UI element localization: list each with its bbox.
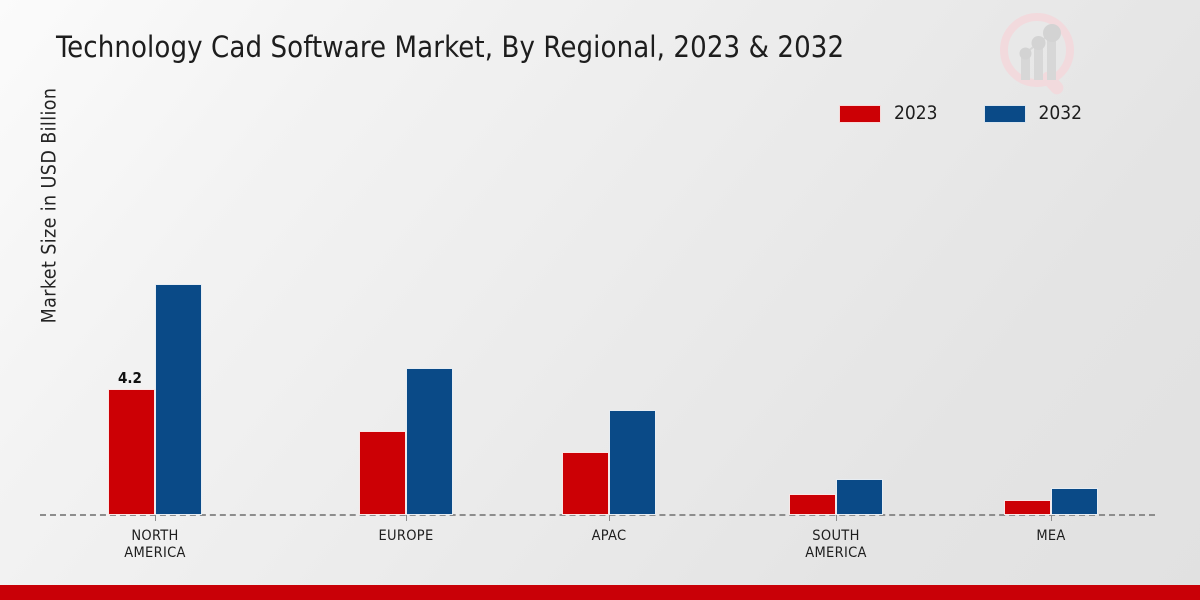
plot-area: 4.2 NORTHAMERICAEUROPEAPACSOUTHAMERICAME… (0, 0, 1200, 600)
bar-north-america-2032[interactable] (155, 284, 202, 515)
bar-north-america-2023[interactable] (108, 389, 155, 515)
x-axis-tick (609, 515, 610, 521)
category-label-mea: MEA (951, 528, 1151, 545)
x-axis-tick (155, 515, 156, 521)
bar-europe-2032[interactable] (406, 368, 453, 515)
bar-mea-2032[interactable] (1051, 488, 1098, 515)
category-label-europe: EUROPE (306, 528, 506, 545)
bar-apac-2023[interactable] (562, 452, 609, 515)
x-axis-tick (1051, 515, 1052, 521)
category-label-north-america: NORTHAMERICA (55, 528, 255, 562)
bar-value-label-north-america-2023: 4.2 (118, 369, 142, 387)
category-label-south-america: SOUTHAMERICA (736, 528, 936, 562)
x-axis-tick (406, 515, 407, 521)
bar-south-america-2032[interactable] (836, 479, 883, 515)
x-axis-tick (836, 515, 837, 521)
chart-infographic: Technology Cad Software Market, By Regio… (0, 0, 1200, 600)
category-label-apac: APAC (509, 528, 709, 545)
bar-europe-2023[interactable] (359, 431, 406, 515)
bar-mea-2023[interactable] (1004, 500, 1051, 515)
bar-apac-2032[interactable] (609, 410, 656, 515)
bar-south-america-2023[interactable] (789, 494, 836, 515)
footer-accent-bar (0, 585, 1200, 600)
